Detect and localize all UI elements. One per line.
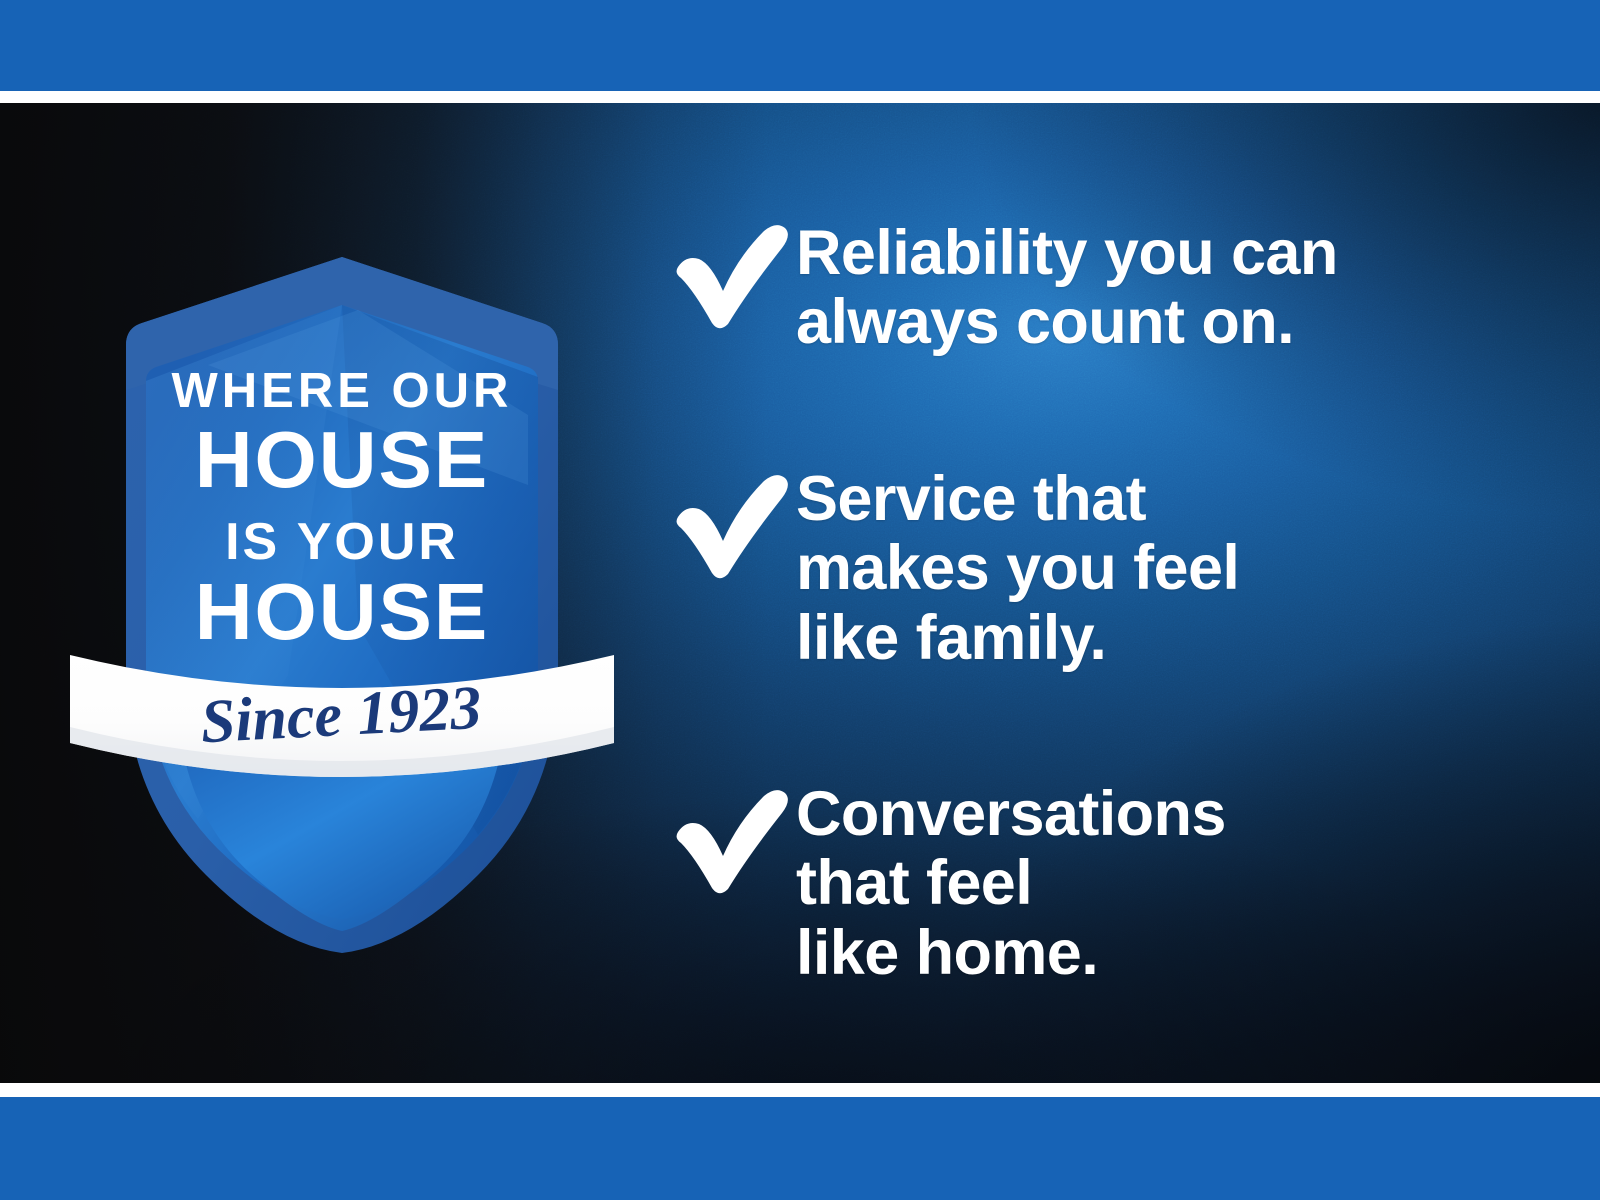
benefit-text-conversations: Conversations that feel like home. [796, 778, 1518, 988]
logo-line-4: HOUSE [195, 567, 490, 656]
logo-line-1: WHERE OUR [172, 364, 513, 418]
brand-logo: WHERE OUR HOUSE IS YOUR HOUSE Since 1923 [58, 155, 638, 975]
checkmark-icon [668, 215, 796, 333]
promo-graphic-canvas: WHERE OUR HOUSE IS YOUR HOUSE Since 1923… [0, 0, 1600, 1200]
benefit-text-service: Service that makes you feel like family. [796, 463, 1518, 673]
benefit-item-conversations: Conversations that feel like home. [668, 778, 1518, 988]
benefit-item-reliability: Reliability you can always count on. [668, 213, 1518, 358]
checkmark-icon [668, 465, 796, 583]
benefit-text-reliability: Reliability you can always count on. [796, 213, 1518, 358]
logo-line-2: HOUSE [195, 415, 490, 504]
benefit-item-service: Service that makes you feel like family. [668, 463, 1518, 673]
bottom-brand-bar [0, 1097, 1600, 1200]
top-brand-bar [0, 0, 1600, 91]
checkmark-icon [668, 780, 796, 898]
benefits-list: Reliability you can always count on. Ser… [668, 103, 1518, 1083]
logo-line-3: IS YOUR [225, 513, 459, 571]
